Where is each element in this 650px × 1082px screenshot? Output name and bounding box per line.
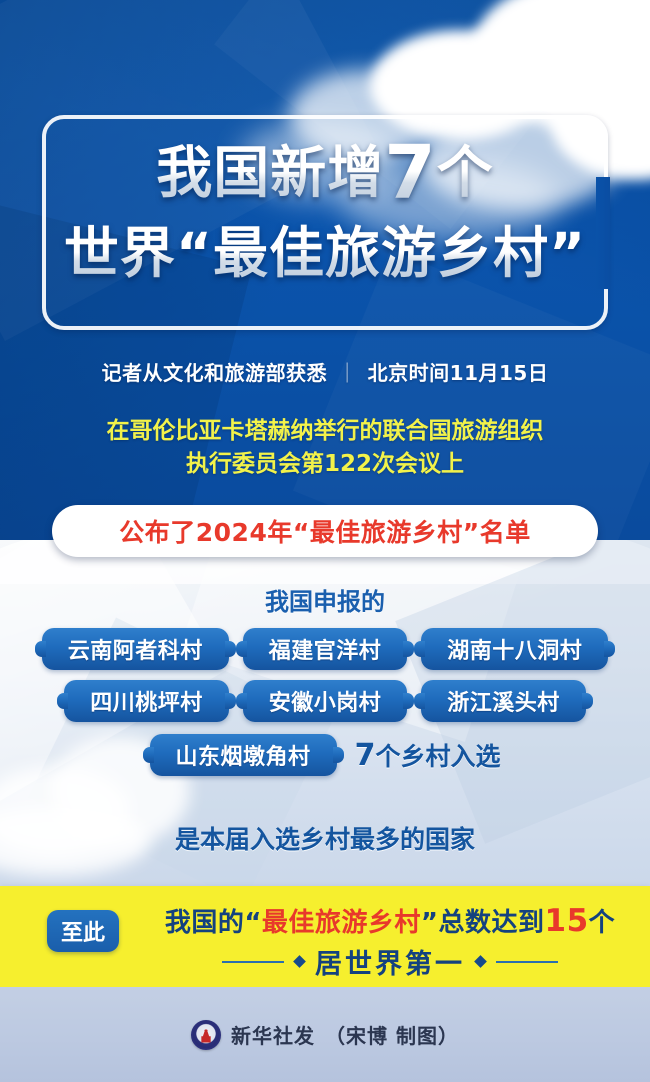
dash-decoration xyxy=(496,961,558,963)
dash-decoration xyxy=(222,961,284,963)
world-first-text: 居世界第一 xyxy=(315,942,465,981)
apply-label: 我国申报的 xyxy=(0,582,650,617)
village-row-1: 云南阿者科村 福建官洋村 湖南十八洞村 xyxy=(0,628,650,670)
title-suffix: 个 xyxy=(437,141,494,206)
source-line: 记者从文化和旅游部获悉｜北京时间11月15日 xyxy=(0,357,650,386)
selected-count: 7个乡村入选 xyxy=(355,737,501,773)
event-line-2: 执行委员会第122次会议上 xyxy=(0,448,650,481)
total-prefix: 我国的“ xyxy=(165,908,262,938)
world-first-row: 居世界第一 xyxy=(140,942,640,981)
footer-credit: （宋博 制图） xyxy=(325,1020,459,1049)
village-pill[interactable]: 安徽小岗村 xyxy=(243,680,408,722)
status-badge: 至此 xyxy=(47,910,119,952)
title-number: 7 xyxy=(384,130,437,216)
village-pill[interactable]: 湖南十八洞村 xyxy=(421,628,608,670)
xinhua-logo-icon xyxy=(191,1020,221,1050)
most-line: 是本届入选乡村最多的国家 xyxy=(0,820,650,856)
logo-emblem xyxy=(200,1028,213,1043)
diamond-icon xyxy=(293,955,306,968)
village-pill[interactable]: 福建官洋村 xyxy=(243,628,408,670)
selected-count-number: 7 xyxy=(355,738,376,773)
title-prefix: 我国新增 xyxy=(156,141,384,206)
total-number: 15 xyxy=(545,903,589,939)
selected-count-label: 个乡村入选 xyxy=(375,742,500,771)
total-highlight: 最佳旅游乡村 xyxy=(262,908,421,938)
footer: 新华社发 （宋博 制图） xyxy=(0,987,650,1082)
yellow-banner: 至此 我国的“最佳旅游乡村”总数达到15个 居世界第一 xyxy=(0,886,650,987)
infographic-poster: 我国新增7个 世界“最佳旅游乡村” 记者从文化和旅游部获悉｜北京时间11月15日… xyxy=(0,0,650,1082)
village-pill[interactable]: 浙江溪头村 xyxy=(421,680,586,722)
event-text: 在哥伦比亚卡塔赫纳举行的联合国旅游组织 执行委员会第122次会议上 xyxy=(0,415,650,482)
village-pill[interactable]: 山东烟墩角村 xyxy=(150,734,337,776)
event-line-1: 在哥伦比亚卡塔赫纳举行的联合国旅游组织 xyxy=(0,415,650,448)
announcement-text: 公布了2024年“最佳旅游乡村”名单 xyxy=(119,513,530,549)
village-row-3: 山东烟墩角村 7个乡村入选 xyxy=(0,734,650,776)
village-row-2: 四川桃坪村 安徽小岗村 浙江溪头村 xyxy=(0,680,650,722)
total-statement: 我国的“最佳旅游乡村”总数达到15个 xyxy=(140,902,640,939)
source-left: 记者从文化和旅游部获悉 xyxy=(102,361,328,385)
village-pill[interactable]: 四川桃坪村 xyxy=(64,680,229,722)
title-line-1: 我国新增7个 xyxy=(0,132,650,214)
total-middle: ”总数达到 xyxy=(421,908,545,938)
page-title: 我国新增7个 世界“最佳旅游乡村” xyxy=(0,132,650,285)
source-right: 北京时间11月15日 xyxy=(368,361,549,385)
village-pill[interactable]: 云南阿者科村 xyxy=(42,628,229,670)
title-line-2: 世界“最佳旅游乡村” xyxy=(0,222,650,285)
village-list: 云南阿者科村 福建官洋村 湖南十八洞村 四川桃坪村 安徽小岗村 浙江溪头村 山东… xyxy=(0,628,650,786)
diamond-icon xyxy=(474,955,487,968)
footer-agency: 新华社发 xyxy=(231,1020,315,1049)
total-suffix: 个 xyxy=(589,908,616,938)
source-divider: ｜ xyxy=(327,361,368,385)
announcement-pill: 公布了2024年“最佳旅游乡村”名单 xyxy=(52,505,598,557)
